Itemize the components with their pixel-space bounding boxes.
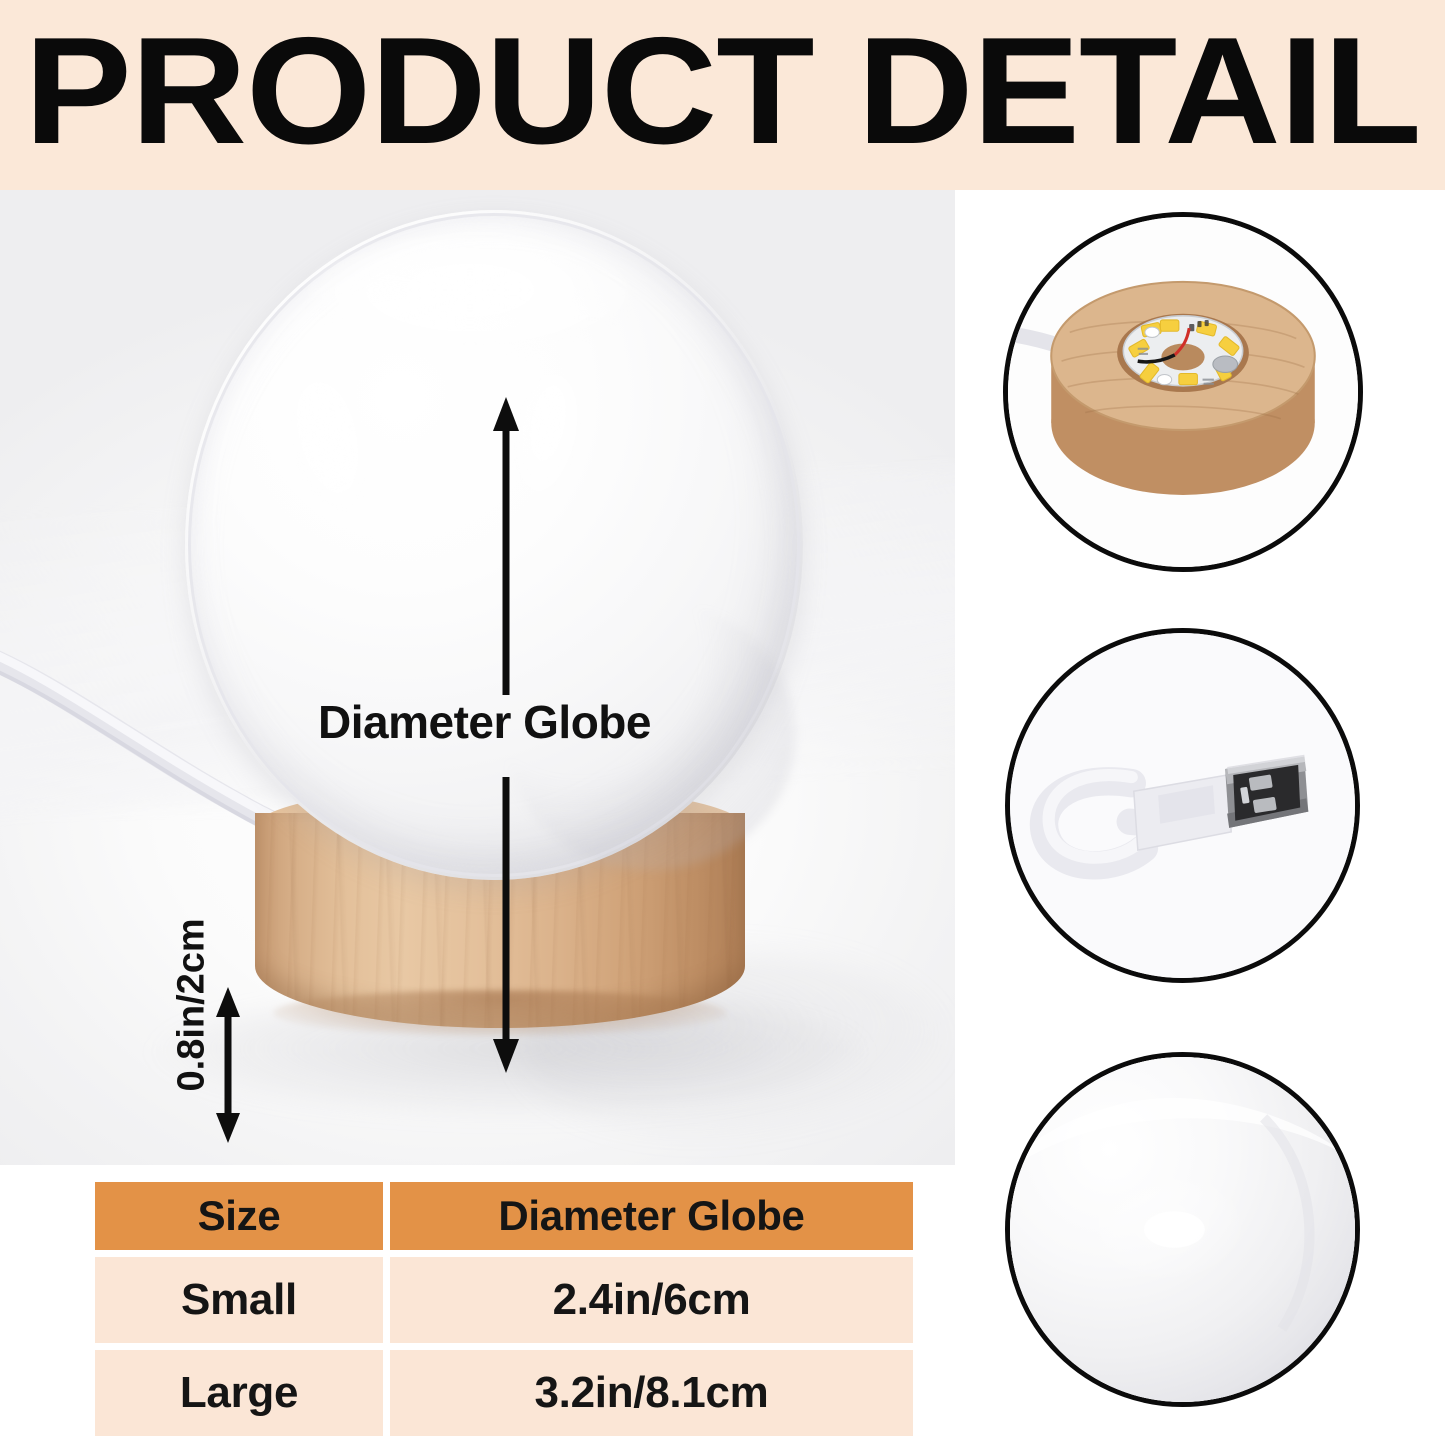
table-header-row: Size Diameter Globe	[95, 1182, 913, 1250]
globe-closeup-inset	[1005, 1052, 1360, 1407]
usb-connector-inset	[1005, 628, 1360, 983]
globe-closeup-illustration	[1010, 1057, 1355, 1402]
table-header-diameter: Diameter Globe	[390, 1182, 913, 1250]
table-row: Large 3.2in/8.1cm	[95, 1350, 913, 1436]
size-spec-table: Size Diameter Globe Small 2.4in/6cm Larg…	[95, 1182, 913, 1443]
table-cell-size-small: Small	[95, 1257, 383, 1343]
main-product-photo: Diameter Globe 0.8in/2cm 3.2in/8.1cm	[0, 190, 955, 1165]
led-base-inset	[1003, 212, 1363, 572]
globe-diameter-label: Diameter Globe	[318, 695, 651, 749]
product-detail-page: PRODUCT DETAIL	[0, 0, 1445, 1445]
table-cell-size-large: Large	[95, 1350, 383, 1436]
page-title: PRODUCT DETAIL	[0, 6, 1445, 176]
globe-top-highlight	[305, 236, 635, 356]
led-base-illustration	[1008, 217, 1358, 567]
table-header-size: Size	[95, 1182, 383, 1250]
header-band: PRODUCT DETAIL	[0, 0, 1445, 190]
table-row: Small 2.4in/6cm	[95, 1257, 913, 1343]
table-cell-diameter-large: 3.2in/8.1cm	[390, 1350, 913, 1436]
usb-connector-illustration	[1010, 633, 1355, 978]
table-cell-diameter-small: 2.4in/6cm	[390, 1257, 913, 1343]
base-height-label: 0.8in/2cm	[171, 932, 214, 1092]
